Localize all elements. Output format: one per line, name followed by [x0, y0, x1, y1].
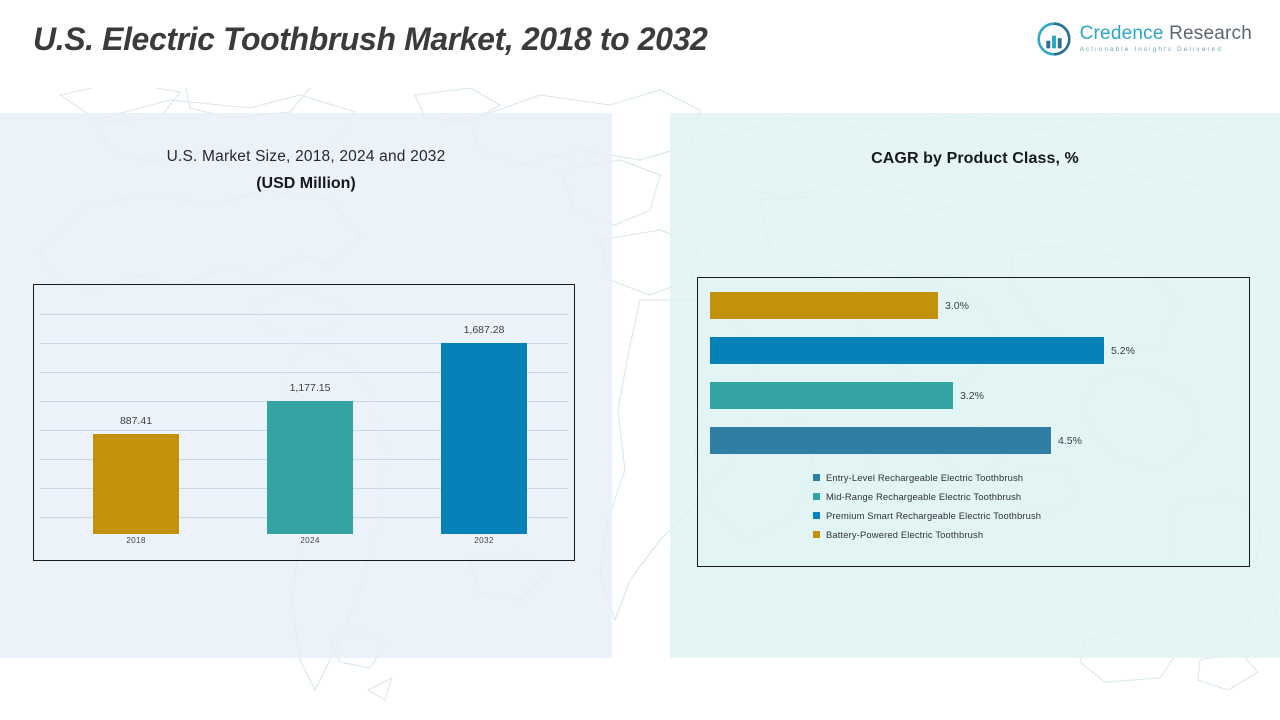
- bar-row: 3.2%: [710, 382, 1243, 409]
- logo-tagline: Actionable Insights Delivered: [1080, 47, 1252, 53]
- legend-swatch-icon: [813, 512, 820, 519]
- bar-value-label: 5.2%: [1111, 345, 1135, 357]
- legend-item[interactable]: Battery-Powered Electric Toothbrush: [813, 525, 1041, 544]
- legend-swatch-icon: [813, 531, 820, 538]
- infographic-stage: U.S. Electric Toothbrush Market, 2018 to…: [0, 0, 1280, 720]
- bar-row: 5.2%: [710, 337, 1243, 364]
- bar-value-label: 3.2%: [960, 390, 984, 402]
- x-axis-tick-label: 2024: [230, 536, 390, 545]
- bar-group: 1,177.15: [230, 293, 390, 534]
- legend-item[interactable]: Mid-Range Rechargeable Electric Toothbru…: [813, 487, 1041, 506]
- bar-row: 4.5%: [710, 427, 1243, 454]
- bar-value-label: 4.5%: [1058, 435, 1082, 447]
- left-chart-title-line2: (USD Million): [0, 175, 612, 193]
- legend-label: Entry-Level Rechargeable Electric Toothb…: [826, 472, 1023, 483]
- page-title: U.S. Electric Toothbrush Market, 2018 to…: [33, 21, 707, 58]
- cagr-bar-chart: 3.0%5.2%3.2%4.5% Entry-Level Rechargeabl…: [697, 277, 1250, 567]
- brand-logo: Credence Research Actionable Insights De…: [1037, 22, 1252, 56]
- legend-item[interactable]: Premium Smart Rechargeable Electric Toot…: [813, 506, 1041, 525]
- bar-group: 887.41: [56, 293, 216, 534]
- bar-value-label: 887.41: [120, 415, 152, 427]
- legend-item[interactable]: Entry-Level Rechargeable Electric Toothb…: [813, 468, 1041, 487]
- left-chart-title-line1: U.S. Market Size, 2018, 2024 and 2032: [0, 148, 612, 166]
- logo-name-part2: Research: [1169, 23, 1252, 44]
- bar-value-label: 1,687.28: [464, 324, 505, 336]
- horizontal-bar[interactable]: [710, 382, 953, 409]
- vertical-bar[interactable]: [93, 434, 179, 534]
- vertical-bars-area: 887.411,177.151,687.28: [34, 293, 574, 534]
- market-size-bar-chart: 887.411,177.151,687.28 201820242032: [33, 284, 575, 561]
- bar-row: 3.0%: [710, 292, 1243, 319]
- x-axis-labels: 201820242032: [34, 536, 574, 554]
- horizontal-bar[interactable]: [710, 292, 938, 319]
- logo-name-part1: Credence: [1080, 23, 1164, 44]
- vertical-bar[interactable]: [267, 401, 353, 534]
- x-axis-tick-label: 2018: [56, 536, 216, 545]
- vertical-bar[interactable]: [441, 343, 527, 534]
- bar-value-label: 1,177.15: [290, 382, 331, 394]
- logo-text: Credence Research Actionable Insights De…: [1080, 24, 1252, 53]
- legend-label: Mid-Range Rechargeable Electric Toothbru…: [826, 491, 1021, 502]
- legend-label: Premium Smart Rechargeable Electric Toot…: [826, 510, 1041, 521]
- bar-group: 1,687.28: [404, 293, 564, 534]
- x-axis-tick-label: 2032: [404, 536, 564, 545]
- header-bar: U.S. Electric Toothbrush Market, 2018 to…: [0, 0, 1280, 88]
- horizontal-bar[interactable]: [710, 427, 1051, 454]
- left-chart-heading: U.S. Market Size, 2018, 2024 and 2032 (U…: [0, 148, 612, 193]
- logo-company-name: Credence Research: [1080, 24, 1252, 43]
- bar-value-label: 3.0%: [945, 300, 969, 312]
- horizontal-bar[interactable]: [710, 337, 1104, 364]
- legend-swatch-icon: [813, 493, 820, 500]
- chart-legend: Entry-Level Rechargeable Electric Toothb…: [813, 468, 1041, 544]
- legend-label: Battery-Powered Electric Toothbrush: [826, 529, 983, 540]
- right-chart-title: CAGR by Product Class, %: [670, 150, 1280, 168]
- legend-swatch-icon: [813, 474, 820, 481]
- bar-chart-circle-icon: [1037, 22, 1071, 56]
- horizontal-bars-area: 3.0%5.2%3.2%4.5%: [710, 292, 1243, 446]
